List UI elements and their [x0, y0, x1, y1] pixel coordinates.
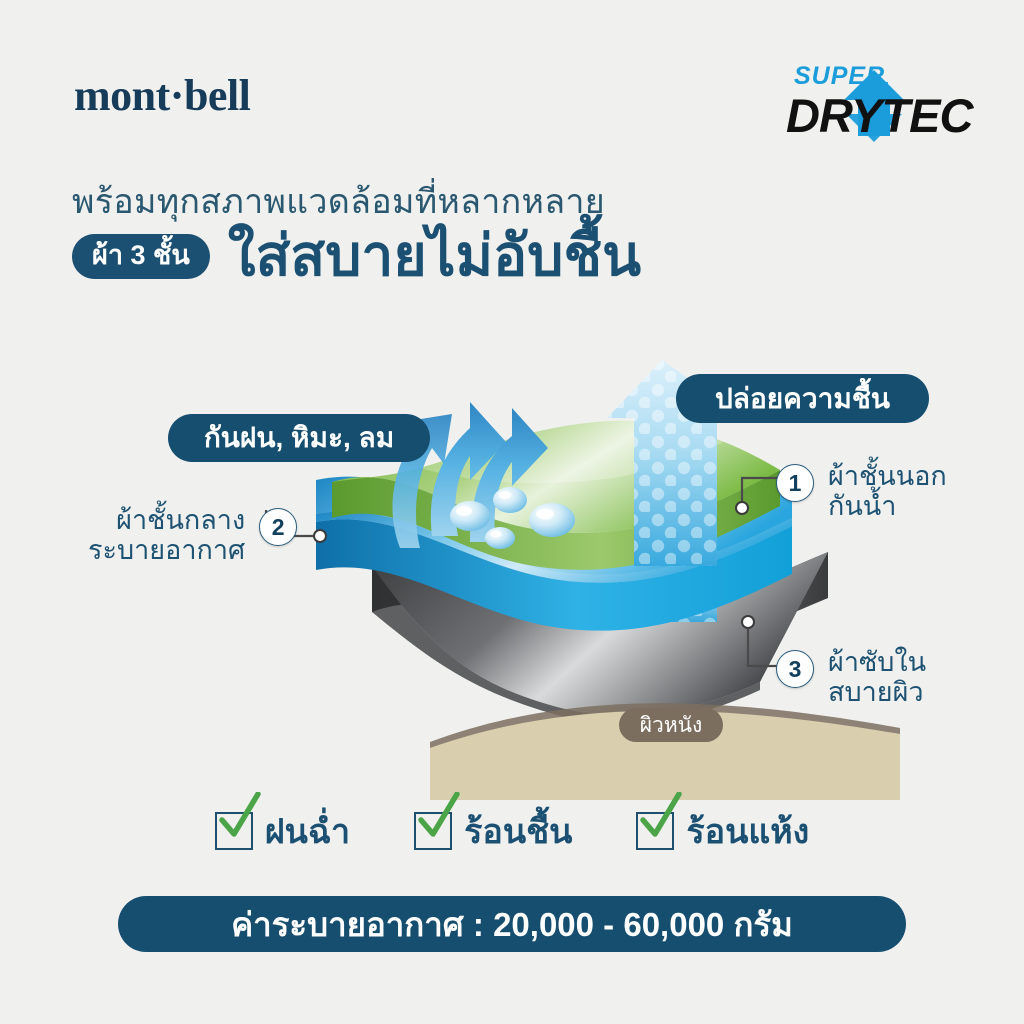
checkmark-icon [637, 792, 683, 842]
callout-1-line1: ผ้าชั้นนอก [828, 461, 947, 491]
check-label-humid-heat: ร้อนชื้น [464, 804, 572, 858]
headline-row: ผ้า 3 ชั้น ใส่สบายไม่อับชื้น [72, 228, 641, 285]
montbell-logo: mont·bell [74, 70, 250, 121]
check-item-rain: ฝนฉ่ำ [215, 804, 350, 858]
pill-release-moisture: ปล่อยความชื้น [676, 374, 929, 423]
infographic-canvas: mont·bell SUPER DRYTEC พร้อมทุกสภาพแวดล้… [0, 0, 1024, 1024]
callout-number-1: 1 [776, 464, 814, 502]
condition-check-row: ฝนฉ่ำ ร้อนชื้น ร้อนแห้ง [0, 800, 1024, 862]
skin-label: ผิวหนัง [619, 708, 723, 742]
checkmark-icon [216, 792, 262, 842]
checkmark-icon [415, 792, 461, 842]
callout-2-line2: ระบายอากาศ [88, 535, 245, 565]
callout-text-1: ผ้าชั้นนอก กันน้ำ [828, 461, 947, 521]
check-item-dry-heat: ร้อนแห้ง [636, 804, 809, 858]
breathability-banner: ค่าระบายอากาศ : 20,000 - 60,000 กรัม [118, 896, 906, 952]
subtitle: พร้อมทุกสภาพแวดล้อมที่หลากหลาย [72, 174, 605, 228]
callout-outer-layer: 1 ผ้าชั้นนอก กันน้ำ [776, 464, 947, 521]
check-item-humid-heat: ร้อนชื้น [414, 804, 572, 858]
callout-text-3: ผ้าซับใน สบายผิว [828, 647, 926, 707]
callout-2-line1: ผ้าชั้นกลาง [88, 505, 245, 535]
callout-inner-layer: 3 ผ้าซับใน สบายผิว [776, 650, 926, 707]
callout-text-2: ผ้าชั้นกลาง ระบายอากาศ [88, 505, 245, 565]
checkbox-icon [414, 812, 452, 850]
check-label-rain: ฝนฉ่ำ [265, 804, 350, 858]
check-label-dry-heat: ร้อนแห้ง [686, 804, 809, 858]
checkbox-icon [215, 812, 253, 850]
callout-1-line2: กันน้ำ [828, 491, 947, 521]
callout-number-2: 2 [259, 508, 297, 546]
drytec-super-text: SUPER [794, 62, 885, 91]
callout-3-line1: ผ้าซับใน [828, 647, 926, 677]
three-layer-badge: ผ้า 3 ชั้น [72, 234, 210, 279]
checkbox-icon [636, 812, 674, 850]
callout-3-line2: สบายผิว [828, 677, 926, 707]
pill-rain-snow-wind: กันฝน, หิมะ, ลม [168, 414, 430, 462]
super-drytec-logo: SUPER DRYTEC [786, 62, 976, 144]
callout-number-3: 3 [776, 650, 814, 688]
callout-middle-layer: ผ้าชั้นกลาง ระบายอากาศ 2 [88, 508, 297, 565]
page-title: ใส่สบายไม่อับชื้น [228, 228, 641, 285]
drytec-main-text: DRYTEC [786, 88, 972, 143]
